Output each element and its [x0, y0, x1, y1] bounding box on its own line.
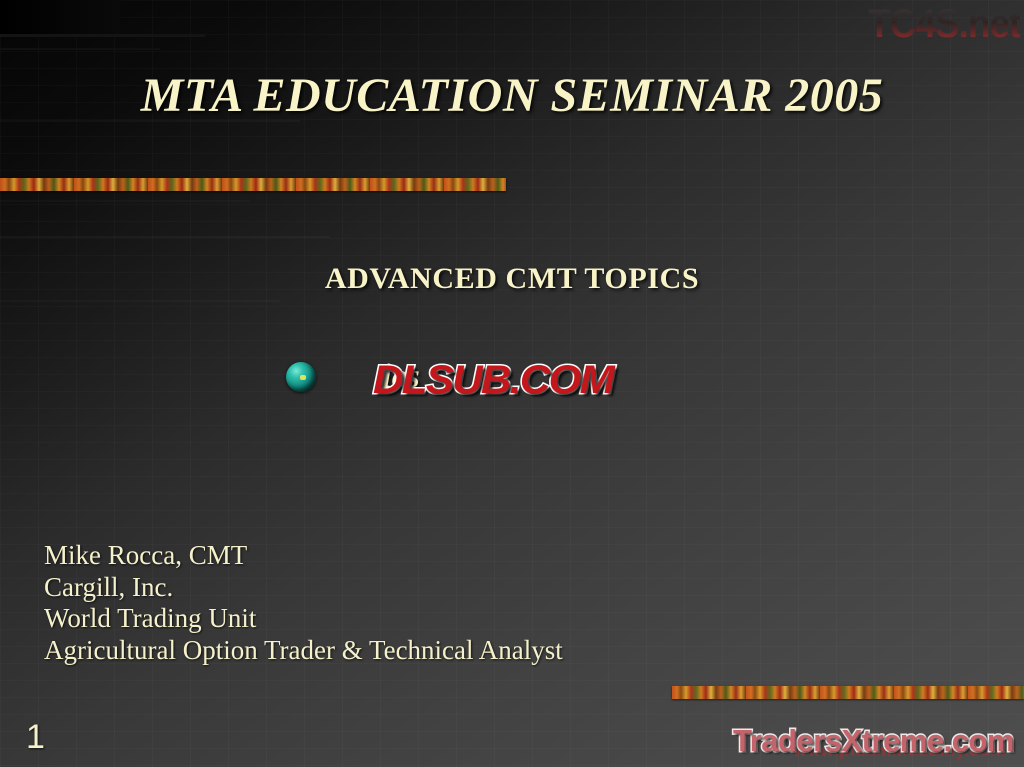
dlsub-watermark: DLSUB.COM	[373, 358, 613, 403]
decorative-color-bar-top	[0, 178, 506, 191]
tradersxtreme-logo: TradersXtreme.com	[733, 723, 1014, 759]
presenter-block: Mike Rocca, CMT Cargill, Inc. World Trad…	[44, 540, 563, 666]
page-number: 1	[26, 718, 45, 757]
background-artifact	[0, 0, 120, 34]
background-artifact	[0, 300, 280, 302]
slide-subtitle: ADVANCED CMT TOPICS	[0, 262, 1024, 296]
slide-title: MTA EDUCATION SEMINAR 2005	[0, 68, 1024, 123]
decorative-color-bar-bottom	[672, 686, 1024, 699]
presenter-line: World Trading Unit	[44, 603, 563, 635]
presenter-line: Agricultural Option Trader & Technical A…	[44, 635, 563, 667]
background-artifact	[0, 236, 330, 238]
presentation-slide: TC4S.net MTA EDUCATION SEMINAR 2005 ADVA…	[0, 0, 1024, 767]
presenter-line: Mike Rocca, CMT	[44, 540, 563, 572]
tc4s-watermark: TC4S.net	[868, 2, 1020, 47]
globe-bullet-icon	[286, 362, 316, 392]
background-artifact	[0, 200, 250, 202]
background-artifact	[0, 48, 160, 50]
presenter-line: Cargill, Inc.	[44, 572, 563, 604]
background-artifact	[0, 34, 205, 37]
